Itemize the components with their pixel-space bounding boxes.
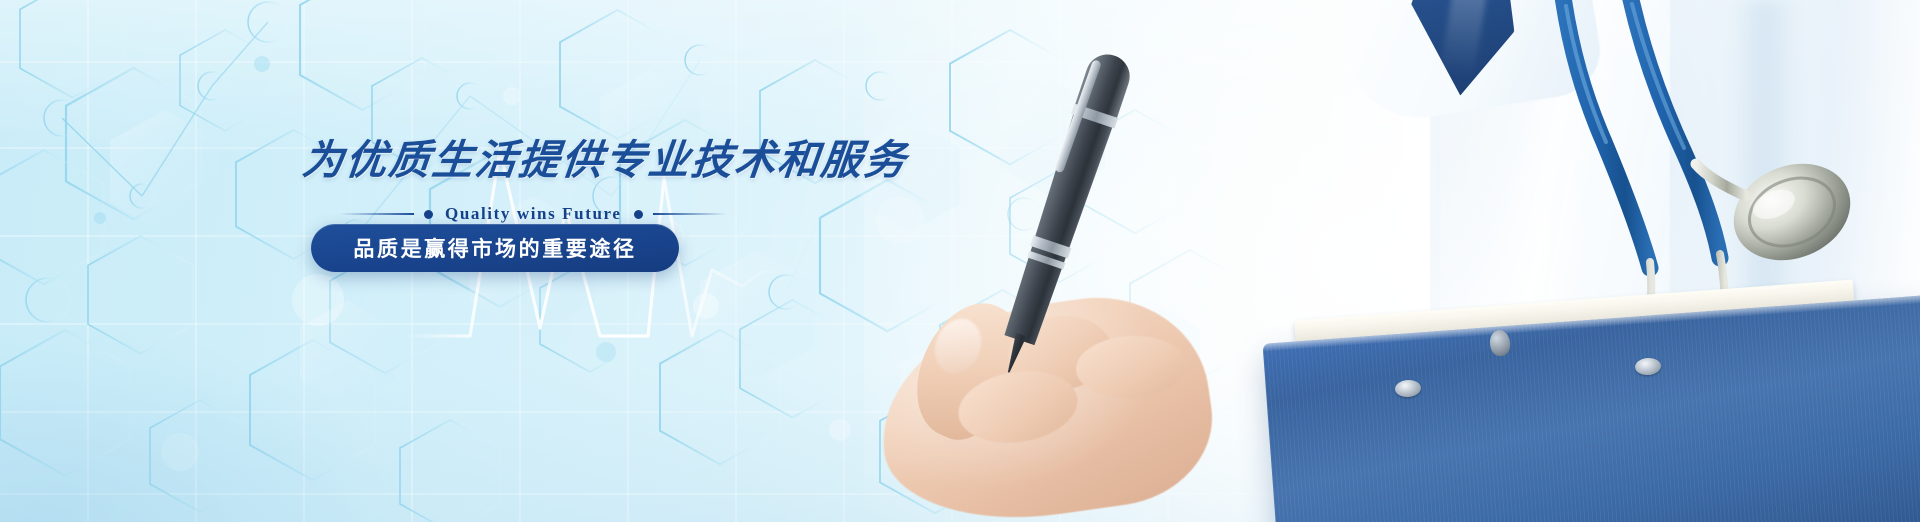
tagline-dot-right <box>634 210 643 219</box>
tagline-rule-right <box>653 213 727 215</box>
slogan-pill-label: 品质是赢得市场的重要途径 <box>353 233 636 263</box>
banner-text-block: 为优质生活提供专业技术和服务 Quality wins Future 品质是赢得… <box>0 0 960 522</box>
doctor-photo-composition <box>840 0 1920 522</box>
tagline-dot-left <box>424 210 433 219</box>
english-tagline: Quality wins Future <box>443 204 624 224</box>
tagline-row: Quality wins Future <box>340 204 727 224</box>
slogan-pill[interactable]: 品质是赢得市场的重要途径 <box>311 224 679 272</box>
tagline-rule-left <box>340 213 414 215</box>
medical-hero-banner: 为优质生活提供专业技术和服务 Quality wins Future 品质是赢得… <box>0 0 1920 522</box>
banner-headline: 为优质生活提供专业技术和服务 <box>300 126 911 186</box>
